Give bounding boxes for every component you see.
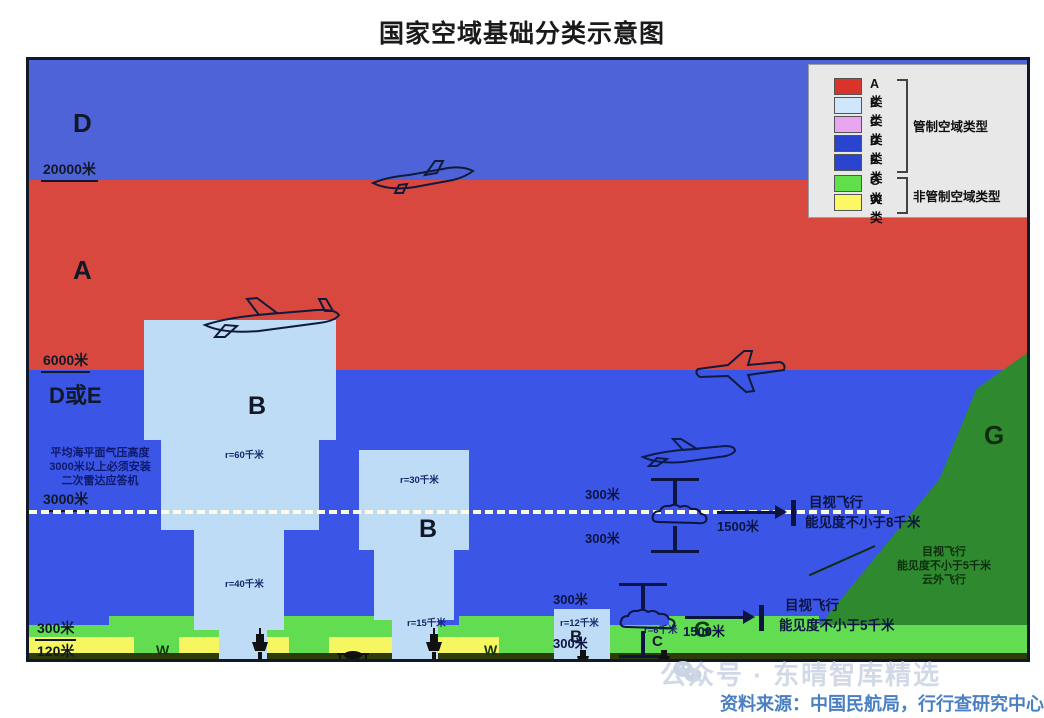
vfr-top-desc-line2: 能见度不小于8千米 [805, 514, 921, 532]
vfr-top-down-arrow [673, 526, 677, 552]
vfr-annotation-upper: 300米 300米 1500米 目视飞行 能见度不小于8千米 [629, 478, 929, 553]
vfr-bot-end-bar [759, 605, 764, 631]
legend-group-controlled: 管制空域类型 [913, 116, 988, 135]
b-block-1-letter: B [248, 392, 266, 421]
vfr-top-horiz-line [717, 511, 779, 514]
legend-brace-controlled [897, 79, 908, 173]
space-shuttle-icon [369, 155, 479, 195]
cloud-icon [651, 504, 709, 526]
control-tower-icon-3 [570, 638, 596, 662]
drone-icon [336, 649, 370, 662]
vfr-top-up-arrow [673, 478, 677, 504]
vfr-bot-arrowhead [743, 610, 755, 624]
b-airspace-block-2-top [359, 450, 469, 550]
altitude-tick-300: 300米 [35, 618, 76, 641]
b-airspace-block-2-mid [374, 550, 454, 620]
page-title: 国家空域基础分类示意图 [0, 14, 1044, 50]
control-tower-icon-2 [421, 624, 447, 662]
vfr-top-horiz-label: 1500米 [717, 516, 759, 535]
watermark-text: 公众号 · 东晴智库精选 [660, 655, 941, 692]
radius-label-40: r=40千米 [225, 576, 264, 590]
legend-swatch-b [834, 97, 862, 114]
vfr-top-lower-bar [651, 550, 699, 553]
fighter-jet-icon [694, 345, 789, 400]
vfr-bot-up-arrow [641, 583, 645, 609]
w-zone-label-2: W [484, 642, 497, 658]
zone-label-a: A [73, 255, 92, 286]
vfr-bot-above-label: 300米 [553, 589, 588, 608]
vfr-top-desc-line1: 目视飞行 [809, 494, 863, 512]
vfr-bot-down-arrow [641, 631, 645, 657]
radius-label-60: r=60千米 [225, 447, 264, 461]
vfr-top-above-label: 300米 [585, 484, 620, 503]
airspace-diagram: 目视飞行能见度不小于5千米云外飞行 W W B B B C r=60千米 r=4… [26, 57, 1030, 662]
vfr-bot-desc-line2: 能见度不小于5千米 [779, 617, 895, 635]
cloud-icon [619, 609, 677, 631]
legend-label-w: W类 [870, 193, 883, 226]
radius-label-12: r=12千米 [560, 615, 599, 629]
legend-swatch-c [834, 116, 862, 133]
airliner-icon-upper [199, 293, 344, 343]
control-tower-icon-1 [247, 624, 273, 662]
airliner-icon-lower [639, 435, 739, 470]
vfr-top-end-bar [791, 500, 796, 526]
b-block-2-letter: B [419, 515, 437, 544]
altitude-tick-120: 120米 [35, 641, 76, 662]
legend-group-uncontrolled: 非管制空域类型 [913, 186, 1001, 205]
vfr-top-arrowhead [775, 505, 787, 519]
source-attribution: 资料来源：中国民航局，行行查研究中心 [444, 690, 1044, 716]
legend-brace-uncontrolled [897, 177, 908, 214]
legend-panel: A类 B类 C类 D类 E类 G类 W类 管制空域类型 非管制空域类型 [808, 64, 1030, 218]
legend-swatch-g [834, 175, 862, 192]
zone-label-d: D [73, 108, 92, 139]
legend-swatch-w [834, 194, 862, 211]
legend-swatch-a [834, 78, 862, 95]
vfr-bot-horiz-label: 1500米 [683, 621, 725, 640]
radius-label-30: r=30千米 [400, 472, 439, 486]
zone-label-g-right: G [984, 420, 1004, 451]
altitude-tick-20000: 20000米 [41, 159, 98, 182]
legend-swatch-d [834, 135, 862, 152]
altitude-tick-3000: 3000米 [41, 489, 90, 512]
vfr-bot-horiz-line [685, 616, 747, 619]
zone-label-de: D或E [49, 378, 102, 410]
vfr-top-below-label: 300米 [585, 528, 620, 547]
radar-transponder-note: 平均海平面气压高度3000米以上必须安装二次雷达应答机 [35, 446, 165, 488]
legend-swatch-e [834, 154, 862, 171]
vfr-bot-desc-line1: 目视飞行 [785, 597, 839, 615]
altitude-tick-6000: 6000米 [41, 350, 90, 373]
vfr-annotation-lower: 300米 300米 1500米 目视飞行 能见度不小于5千米 [597, 583, 917, 658]
w-zone-label-1: W [156, 642, 169, 658]
